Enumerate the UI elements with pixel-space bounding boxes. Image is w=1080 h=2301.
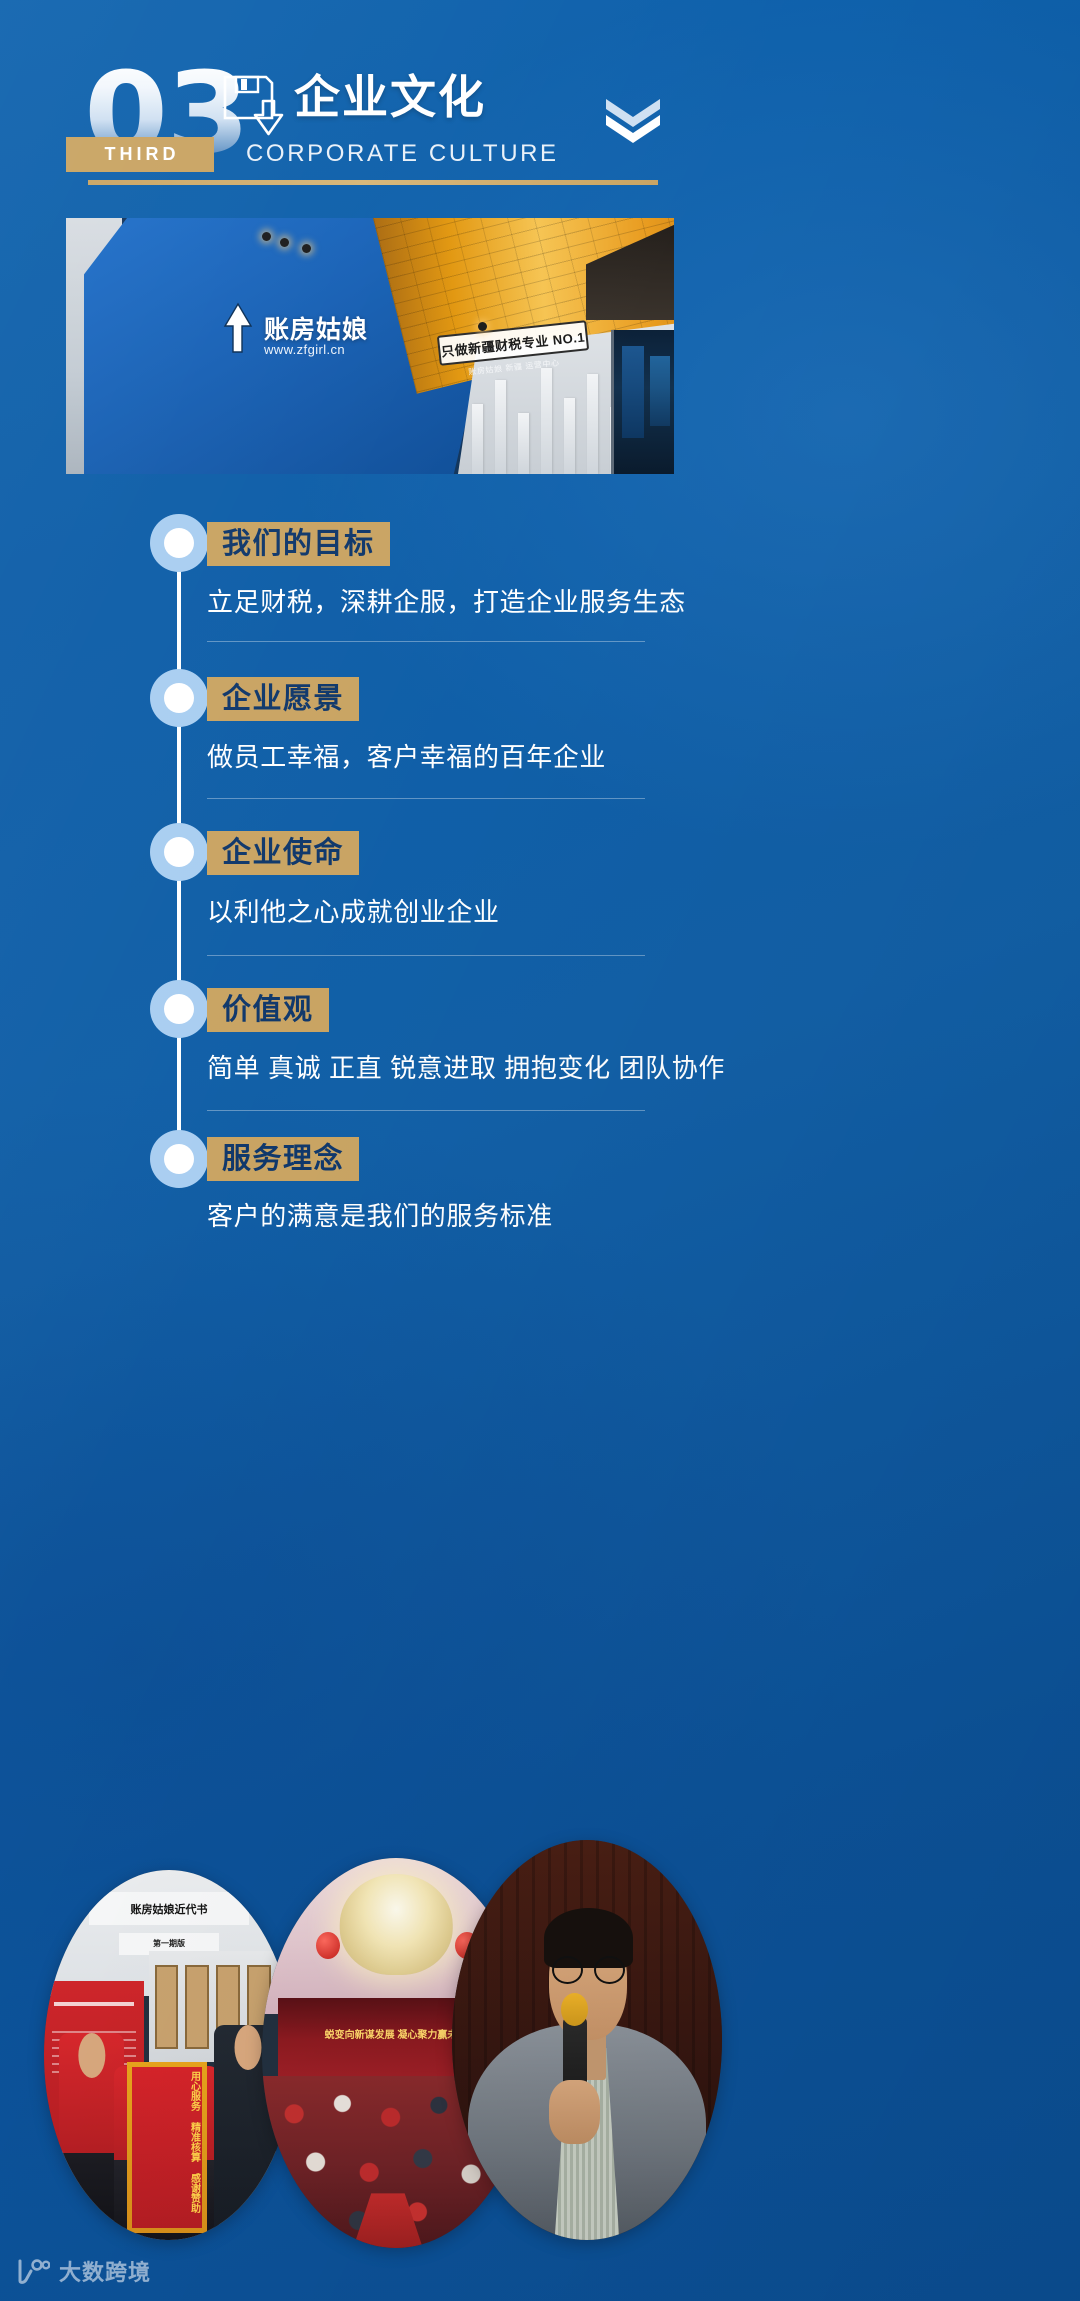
timeline-dot [150,980,208,1038]
watermark: 大数跨境 [16,2255,151,2287]
gallery-photo-speaker [452,1840,722,2240]
timeline-dot [150,514,208,572]
photo1-honor-banner: 用心服务 精准核算 感谢赞助 [127,2062,207,2232]
photo3-hand [549,2080,600,2144]
photo1-honor-banner-text: 用心服务 精准核算 感谢赞助 [132,2067,202,2227]
section-header: 03 THIRD 企业文化 CORPORATE CULTURE [0,0,1080,200]
page-root: 03 THIRD 企业文化 CORPORATE CULTURE [0,0,1080,2301]
timeline-description: 立足财税，深耕企服，打造企业服务生态 [207,582,686,619]
ordinal-badge-label: THIRD [101,144,180,165]
wall-wordmark: 账房姑娘 [264,310,368,346]
timeline-dot [150,669,208,727]
timeline-dot [150,1130,208,1188]
office-lobby-photo: 账房姑娘 www.zfgirl.cn 只做新疆财税专业 NO.1 账房姑娘 新疆… [66,218,674,474]
page-subtitle: CORPORATE CULTURE [246,142,559,166]
timeline-badge-label: 我们的目标 [222,530,375,559]
timeline-dot [150,823,208,881]
timeline-separator [207,798,645,799]
timeline-description: 做员工幸福，客户幸福的百年企业 [207,737,606,774]
wall-url: www.zfgirl.cn [264,342,345,357]
timeline-badge-label: 服务理念 [222,1145,344,1174]
timeline-badge-label: 价值观 [222,996,314,1025]
ceiling-spotlight-icon [302,244,311,253]
timeline-badge-label: 企业使命 [222,839,344,868]
timeline-badge: 企业使命 [207,831,359,875]
ceiling-spotlight-icon [280,238,289,247]
ceiling-spotlight-icon [262,232,271,241]
timeline-separator [207,955,645,956]
watermark-logo-icon [16,2258,50,2284]
timeline-badge: 价值观 [207,988,329,1032]
gallery-photo-award: 账房姑娘近代书 第一期版 [44,1870,294,2240]
page-title: 企业文化 [294,74,486,120]
timeline-separator [207,641,645,642]
photo-glass-entrance [611,330,674,474]
ordinal-badge: THIRD [66,137,214,172]
ceiling-spotlight-icon [478,322,487,331]
timeline-badge-label: 企业愿景 [222,685,344,714]
photo2-lantern-icon [316,1932,340,1959]
floppy-disk-download-icon [222,74,284,140]
timeline-badge: 服务理念 [207,1137,359,1181]
timeline-description: 简单 真诚 正直 锐意进取 拥抱变化 团队协作 [207,1048,725,1085]
timeline-separator [207,1110,645,1111]
photo1-sign: 账房姑娘近代书 [89,1892,249,1925]
photo3-glasses-icon [552,1956,625,1984]
timeline-description: 客户的满意是我们的服务标准 [207,1196,553,1233]
gallery: 账房姑娘近代书 第一期版 [0,1830,1080,2250]
header-divider [88,180,658,185]
watermark-label: 大数跨境 [59,2255,151,2287]
timeline-badge: 我们的目标 [207,522,390,566]
double-chevron-down-icon[interactable] [602,96,664,144]
company-logo-mark-icon [218,302,258,356]
timeline-description: 以利他之心成就创业企业 [207,892,500,929]
timeline-badge: 企业愿景 [207,677,359,721]
photo2-chandelier [340,1874,453,1975]
